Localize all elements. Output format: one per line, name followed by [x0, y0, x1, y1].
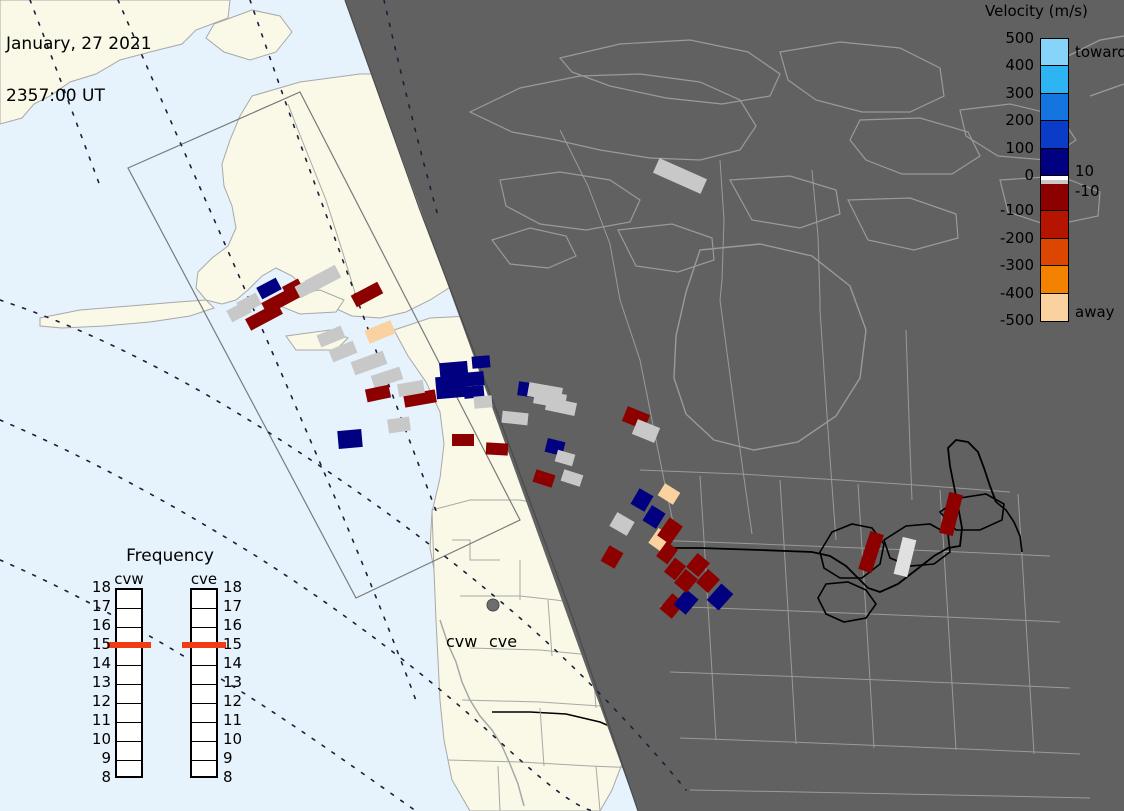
velocity-segment-toward	[1041, 149, 1068, 176]
frequency-marker-cve	[182, 642, 226, 648]
frequency-bar-cve[interactable]	[190, 588, 218, 778]
frequency-legend-title: Frequency	[85, 546, 255, 566]
frequency-tick-label: 9	[85, 753, 111, 764]
frequency-tick-label: 14	[85, 658, 111, 669]
radar-velocity-map-screenshot: January, 27 2021 2357:00 UT cvw cve Velo…	[0, 0, 1124, 811]
velocity-tick-label: 200	[988, 114, 1034, 126]
frequency-tick-label: 11	[223, 715, 249, 726]
frequency-cell	[192, 723, 216, 742]
radar-site-marker	[487, 599, 499, 611]
frequency-cell	[192, 704, 216, 723]
velocity-segment-toward	[1041, 66, 1068, 93]
frequency-cell	[192, 590, 216, 609]
velocity-tick-label: 100	[988, 142, 1034, 154]
frequency-tick-label: 13	[223, 677, 249, 688]
radar-cell[interactable]	[461, 371, 484, 387]
frequency-legend-panel: Frequency cvw18171615141312111098cve1817…	[85, 546, 255, 786]
velocity-segment-away	[1041, 294, 1068, 321]
velocity-tick-label: 500	[988, 32, 1034, 44]
frequency-bar-cvw[interactable]	[115, 588, 143, 778]
frequency-tick-label: 11	[85, 715, 111, 726]
frequency-tick-label: 10	[85, 734, 111, 745]
frequency-cell	[192, 761, 216, 780]
frequency-tick-label: 12	[85, 696, 111, 707]
site-label-cve: cve	[489, 632, 517, 651]
velocity-segment-away	[1041, 211, 1068, 238]
title-time: 2357:00 UT	[6, 88, 152, 106]
frequency-tick-label: 8	[85, 772, 111, 783]
title-date: January, 27 2021	[6, 36, 152, 54]
frequency-tick-label: 16	[85, 620, 111, 631]
velocity-label-toward: toward	[1075, 46, 1124, 58]
velocity-label-10: 10	[1075, 165, 1094, 177]
radar-cell[interactable]	[337, 429, 362, 449]
frequency-cell	[192, 666, 216, 685]
velocity-tick-label: -100	[988, 204, 1034, 216]
velocity-tick-label: -500	[988, 314, 1034, 326]
frequency-tick-label: 16	[223, 620, 249, 631]
frequency-tick-label: 13	[85, 677, 111, 688]
radar-cell[interactable]	[474, 395, 493, 409]
frequency-tick-label: 14	[223, 658, 249, 669]
frequency-cell	[117, 590, 141, 609]
frequency-cell	[117, 742, 141, 761]
velocity-label-away: away	[1075, 306, 1115, 318]
frequency-tick-label: 18	[85, 582, 111, 593]
velocity-tick-label: 400	[988, 59, 1034, 71]
velocity-segment-toward	[1041, 39, 1068, 66]
frequency-tick-label: 9	[223, 753, 249, 764]
frequency-cell	[117, 704, 141, 723]
frequency-tick-label: 17	[85, 601, 111, 612]
frequency-cell	[192, 647, 216, 666]
timestamp-title: January, 27 2021 2357:00 UT	[6, 2, 152, 140]
frequency-cell	[117, 723, 141, 742]
radar-cell[interactable]	[452, 434, 474, 446]
site-label-cvw: cvw	[446, 632, 477, 651]
frequency-tick-label: 15	[223, 639, 249, 650]
velocity-colorbar-panel: Velocity (m/s) 5004003002001000-100-200-…	[983, 0, 1124, 340]
velocity-tick-label: 300	[988, 87, 1034, 99]
velocity-segment-away	[1041, 184, 1068, 211]
frequency-column-name-cve: cve	[182, 570, 226, 588]
velocity-tick-label: -300	[988, 259, 1034, 271]
velocity-colorbar[interactable]	[1040, 38, 1069, 322]
velocity-label-minus10: -10	[1075, 185, 1100, 197]
velocity-colorbar-title: Velocity (m/s)	[985, 2, 1124, 20]
frequency-cell	[192, 742, 216, 761]
frequency-cell	[117, 666, 141, 685]
frequency-cell	[117, 685, 141, 704]
radar-cell[interactable]	[486, 442, 509, 455]
frequency-tick-label: 17	[223, 601, 249, 612]
frequency-tick-label: 18	[223, 582, 249, 593]
frequency-cell	[192, 609, 216, 628]
frequency-cell	[117, 647, 141, 666]
frequency-cell	[117, 761, 141, 780]
velocity-tick-label: 0	[988, 169, 1034, 181]
frequency-marker-cvw	[107, 642, 151, 648]
frequency-tick-label: 12	[223, 696, 249, 707]
frequency-tick-label: 8	[223, 772, 249, 783]
frequency-tick-label: 15	[85, 639, 111, 650]
velocity-tick-label: -400	[988, 287, 1034, 299]
frequency-cell	[117, 609, 141, 628]
velocity-segment-away	[1041, 266, 1068, 293]
velocity-segment-toward	[1041, 94, 1068, 121]
frequency-column-name-cvw: cvw	[107, 570, 151, 588]
velocity-segment-toward	[1041, 121, 1068, 148]
frequency-cell	[192, 685, 216, 704]
radar-cell[interactable]	[472, 355, 491, 369]
velocity-tick-label: -200	[988, 232, 1034, 244]
frequency-tick-label: 10	[223, 734, 249, 745]
velocity-segment-away	[1041, 239, 1068, 266]
